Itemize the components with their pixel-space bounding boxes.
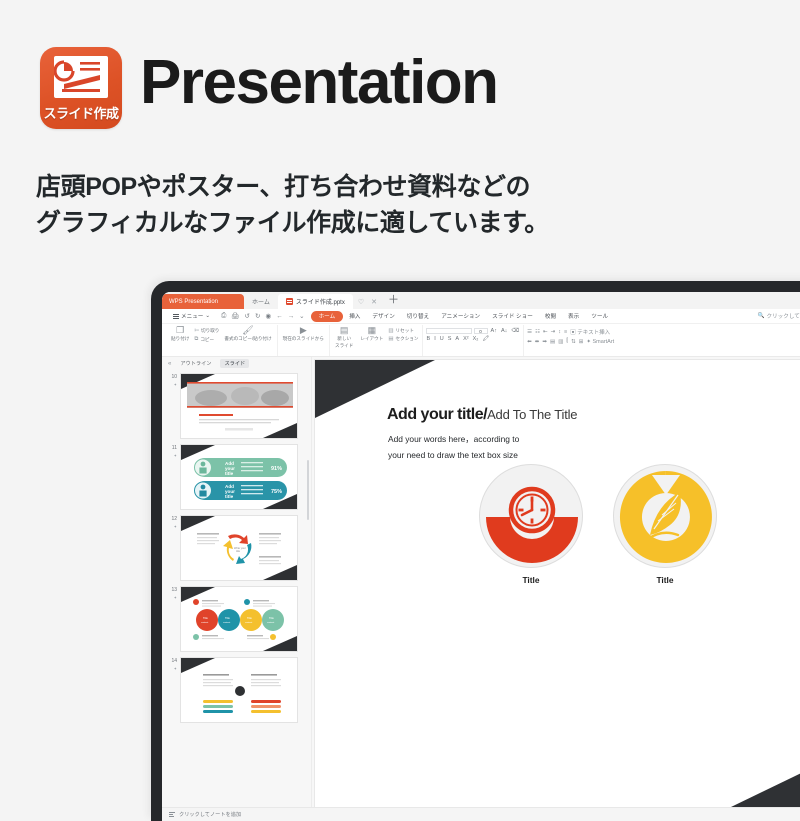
subscript-icon[interactable]: X₂ xyxy=(472,336,480,342)
hamburger-icon xyxy=(173,314,179,319)
slide-canvas[interactable]: Add your title/ Add To The Title Add you… xyxy=(315,360,800,807)
graphic-label-feather: Title xyxy=(656,575,673,585)
scissors-icon: ✄ xyxy=(194,328,199,334)
clipboard-small-buttons: ✄ 切り取り ⧉ コピー xyxy=(194,326,219,343)
quick-access-toolbar: ⎙ 🖨 ↺ ↻ ◉ ← → ⌄ xyxy=(215,312,311,320)
slide-title[interactable]: Add your title/ Add To The Title xyxy=(387,406,577,424)
tab-outline[interactable]: アウトライン xyxy=(176,359,215,368)
ribbon-tab-slideshow[interactable]: スライド ショー xyxy=(486,311,539,322)
increase-indent-icon[interactable]: ⇥ xyxy=(551,329,556,335)
tab-document-label: スライド作成.pptx xyxy=(296,297,345,306)
ribbon-group-slideshow: ▶ 現在のスライドから xyxy=(277,325,329,356)
clear-format-icon[interactable]: ⌫ xyxy=(510,328,520,334)
font-color-icon[interactable]: A xyxy=(454,336,460,342)
slide-star-icon: ✦ xyxy=(166,524,177,530)
arrow-right-icon[interactable]: → xyxy=(288,313,295,320)
ribbon-tab-review[interactable]: 校閲 xyxy=(539,311,562,322)
paste-label: 貼り付け xyxy=(171,336,189,342)
format-painter-button[interactable]: 🖌 書式のコピー/貼り付け xyxy=(222,326,273,342)
slide-title-bold: Add your title/ xyxy=(387,406,487,424)
slide-star-icon: ✦ xyxy=(166,453,177,459)
slide-body-text[interactable]: Add your words here，according to your ne… xyxy=(388,432,519,463)
favorite-icon[interactable]: ♡ xyxy=(358,298,364,306)
align-text-icon[interactable]: ⊞ xyxy=(579,339,584,345)
ribbon-group-slides: ▤ 新しい スライド ▦ レイアウト ▥ リセット ▤ セクション xyxy=(329,325,422,356)
reset-button[interactable]: ▥ リセット xyxy=(388,328,418,334)
app-brand-label: WPS Presentation xyxy=(162,294,244,309)
ribbon-tab-insert[interactable]: 挿入 xyxy=(343,311,366,322)
svg-text:content: content xyxy=(245,621,253,624)
new-slide-label-1: 新しい xyxy=(337,336,351,342)
font-size-input[interactable]: 0 xyxy=(474,328,488,334)
slide-thumbnail-10[interactable] xyxy=(180,373,298,439)
paste-icon: ❐ xyxy=(176,326,184,335)
list-item[interactable]: 13✦ Title content Title xyxy=(162,586,311,657)
corner-decoration-bottom-right xyxy=(731,749,800,807)
new-slide-label-2: スライド xyxy=(335,343,353,349)
font-family-input[interactable] xyxy=(426,328,472,334)
slide-graphics-row: Title xyxy=(375,464,800,585)
tab-home[interactable]: ホーム xyxy=(244,294,278,309)
graphic-label-clock: Title xyxy=(522,575,539,585)
promo-description: 店頭POPやポスター、打ち合わせ資料などの グラフィカルなファイル作成に適してい… xyxy=(36,170,549,241)
slide-body-line-2: your need to draw the text box size xyxy=(388,448,519,464)
copy-label: コピー xyxy=(200,337,214,343)
save-icon[interactable]: ⎙ xyxy=(221,312,226,320)
tab-slides[interactable]: スライド xyxy=(220,359,249,368)
align-left-icon[interactable]: ⬅ xyxy=(527,339,532,345)
section-label: セクション xyxy=(396,336,419,342)
slide-title-light: Add To The Title xyxy=(487,407,577,422)
menu-button-label: メニュー xyxy=(181,312,203,320)
slides-small-buttons: ▥ リセット ▤ セクション xyxy=(388,326,418,342)
slide-star-icon: ✦ xyxy=(166,595,177,601)
ribbon-tab-design[interactable]: デザイン xyxy=(366,311,400,322)
clock-circle-graphic xyxy=(479,464,583,568)
line-spacing-icon[interactable]: ↕ xyxy=(558,329,561,335)
slide-number: 10✦ xyxy=(166,373,177,388)
list-item[interactable]: 10✦ xyxy=(162,373,311,444)
tab-document[interactable]: スライド作成.pptx xyxy=(278,294,353,309)
chevron-down-icon: ⌄ xyxy=(205,313,210,319)
text-direction-icon[interactable]: ⇅ xyxy=(571,339,576,345)
svg-text:Title: Title xyxy=(203,616,208,620)
highlight-icon[interactable]: 🖍 xyxy=(481,336,490,342)
reset-icon: ▥ xyxy=(388,328,393,334)
preview-icon[interactable]: ◉ xyxy=(265,312,271,320)
command-search-placeholder: クリックしてコマンドを検索 xyxy=(766,312,800,320)
layout-button[interactable]: ▦ レイアウト xyxy=(358,326,385,342)
promo-header: スライド作成 Presentation 店頭POPやポスター、打ち合わせ資料など… xyxy=(0,0,800,270)
svg-text:Title: Title xyxy=(269,616,274,620)
panel-scrollbar[interactable] xyxy=(307,460,310,520)
panel-tabs: « アウトライン スライド xyxy=(162,357,311,370)
underline-button[interactable]: U xyxy=(439,336,445,342)
justify-icon[interactable]: ▤ xyxy=(550,339,555,345)
paragraph-controls: ☰ ☷ ⇤ ⇥ ↕ ≡ ▣ テキスト挿入 ⬅ ⬌ ➡ ▤ ▥ ⫿ ⇅ ⊞ xyxy=(527,326,614,345)
menu-button[interactable]: メニュー ⌄ xyxy=(168,312,215,320)
slide-editor-area[interactable]: Add your title/ Add To The Title Add you… xyxy=(312,357,800,807)
notes-icon xyxy=(169,812,175,817)
workspace: « アウトライン スライド 10✦ xyxy=(162,357,800,807)
app-badge: スライド作成 xyxy=(40,47,122,129)
superscript-icon[interactable]: X² xyxy=(462,336,470,342)
title-bar: WPS Presentation ホーム スライド作成.pptx ♡ ✕ ＋ xyxy=(162,292,800,309)
close-icon[interactable]: ✕ xyxy=(371,298,377,306)
list-item[interactable]: 11✦ Add your title xyxy=(162,444,311,515)
status-bar[interactable]: クリックしてノートを追加 xyxy=(162,807,800,821)
slide-chart-icon xyxy=(54,56,108,98)
tab-actions: ♡ ✕ xyxy=(353,298,383,309)
smartart-button[interactable]: ✦ SmartArt xyxy=(586,339,614,345)
ribbon-tab-tools[interactable]: ツール xyxy=(585,311,614,322)
tab-home-label: ホーム xyxy=(252,297,270,306)
svg-text:title: title xyxy=(236,549,241,553)
slide-star-icon: ✦ xyxy=(166,382,177,388)
list-item[interactable]: 14✦ xyxy=(162,657,311,728)
brush-icon: 🖌 xyxy=(242,326,253,335)
columns-icon[interactable]: ⫿ xyxy=(566,338,568,345)
print-icon[interactable]: 🖨 xyxy=(231,312,239,320)
list-item[interactable]: 12✦ Write your title xyxy=(162,515,311,586)
strikethrough-button[interactable]: S xyxy=(447,336,453,342)
search-icon: 🔍 xyxy=(757,313,764,319)
slide-thumbnail-12[interactable]: Write your title xyxy=(180,515,298,581)
paragraph-row-2: ⬅ ⬌ ➡ ▤ ▥ ⫿ ⇅ ⊞ ✦ SmartArt xyxy=(527,338,614,345)
slide-number: 12✦ xyxy=(166,515,177,530)
ribbon-tab-strip: メニュー ⌄ ⎙ 🖨 ↺ ↻ ◉ ← → ⌄ ホーム 挿入 デザイン 切り替え … xyxy=(162,309,800,324)
slide-thumbnail-13[interactable]: Title content Title content Title conten… xyxy=(180,586,298,652)
text-insert-button[interactable]: ▣ テキスト挿入 xyxy=(570,328,610,336)
notes-placeholder: クリックしてノートを追加 xyxy=(179,811,241,818)
thumbnail-list[interactable]: 10✦ xyxy=(162,370,311,807)
font-family-row: 0 A↑ A↓ ⌫ xyxy=(426,328,521,334)
format-painter-label: 書式のコピー/貼り付け xyxy=(224,336,271,342)
layout-label: レイアウト xyxy=(360,336,383,342)
svg-text:content: content xyxy=(201,621,209,624)
svg-text:Title: Title xyxy=(225,616,230,620)
promo-description-line-2: グラフィカルなファイル作成に適しています。 xyxy=(36,206,549,242)
svg-text:91%: 91% xyxy=(271,466,282,472)
distribute-icon[interactable]: ▥ xyxy=(558,339,563,345)
ribbon-group-font: 0 A↑ A↓ ⌫ B I U S A X² X₂ 🖍 xyxy=(422,325,524,356)
new-slide-icon: ▤ xyxy=(340,326,349,335)
reset-label: リセット xyxy=(396,328,414,334)
paste-button[interactable]: ❐ 貼り付け xyxy=(169,326,191,342)
new-tab-button[interactable]: ＋ xyxy=(383,292,404,309)
svg-text:Title: Title xyxy=(247,616,252,620)
section-icon: ▤ xyxy=(388,336,393,342)
ribbon-tab-transitions[interactable]: 切り替え xyxy=(401,311,435,322)
align-center-icon[interactable]: ⬌ xyxy=(535,339,540,345)
font-controls: 0 A↑ A↓ ⌫ B I U S A X² X₂ 🖍 xyxy=(426,326,521,342)
app-badge-caption: スライド作成 xyxy=(40,103,122,122)
svg-text:content: content xyxy=(267,621,275,624)
text-insert-label: テキスト挿入 xyxy=(577,330,610,336)
numbered-list-icon[interactable]: ☷ xyxy=(535,329,540,335)
undo-icon[interactable]: ↺ xyxy=(245,312,250,320)
paragraph-spacing-icon[interactable]: ≡ xyxy=(564,329,567,335)
slide-panel: « アウトライン スライド 10✦ xyxy=(162,357,312,807)
cut-button[interactable]: ✄ 切り取り xyxy=(194,328,219,334)
command-search[interactable]: 🔍 クリックしてコマンドを検索 xyxy=(757,312,800,320)
slide-number: 13✦ xyxy=(166,586,177,601)
app-window: WPS Presentation ホーム スライド作成.pptx ♡ ✕ ＋ メ… xyxy=(162,292,800,821)
redo-icon[interactable]: ↻ xyxy=(255,312,260,320)
cut-label: 切り取り xyxy=(201,328,219,334)
bullet-list-icon[interactable]: ☰ xyxy=(527,329,532,335)
arrow-left-icon[interactable]: ← xyxy=(276,313,283,320)
grow-font-icon[interactable]: A↑ xyxy=(490,328,498,334)
align-right-icon[interactable]: ➡ xyxy=(542,339,547,345)
promo-description-line-1: 店頭POPやポスター、打ち合わせ資料などの xyxy=(36,170,549,206)
new-slide-button[interactable]: ▤ 新しい スライド xyxy=(333,326,355,349)
slide-body-line-1: Add your words here，according to xyxy=(388,432,519,448)
from-current-slide-button[interactable]: ▶ 現在のスライドから xyxy=(281,326,326,342)
feather-circle-graphic xyxy=(613,464,717,568)
paragraph-row-1: ☰ ☷ ⇤ ⇥ ↕ ≡ ▣ テキスト挿入 xyxy=(527,328,614,336)
font-style-row: B I U S A X² X₂ 🖍 xyxy=(426,336,521,342)
monitor-frame: WPS Presentation ホーム スライド作成.pptx ♡ ✕ ＋ メ… xyxy=(151,281,800,821)
slide-thumbnail-14[interactable] xyxy=(180,657,298,723)
ribbon-group-clipboard: ❐ 貼り付け ✄ 切り取り ⧉ コピー 🖌 書式のコピー/貼り付け xyxy=(166,325,277,356)
ribbon-body: ❐ 貼り付け ✄ 切り取り ⧉ コピー 🖌 書式のコピー/貼り付け ▶ xyxy=(162,324,800,357)
more-icon[interactable]: ⌄ xyxy=(299,312,304,320)
graphic-item-clock[interactable]: Title xyxy=(479,464,583,585)
bold-button[interactable]: B xyxy=(426,336,432,342)
slide-number: 14✦ xyxy=(166,657,177,672)
shrink-font-icon[interactable]: A↓ xyxy=(500,328,508,334)
from-current-slide-label: 現在のスライドから xyxy=(283,336,324,342)
play-circle-icon: ▶ xyxy=(300,326,307,335)
italic-button[interactable]: I xyxy=(433,336,437,342)
ribbon-group-paragraph: ☰ ☷ ⇤ ⇥ ↕ ≡ ▣ テキスト挿入 ⬅ ⬌ ➡ ▤ ▥ ⫿ ⇅ ⊞ xyxy=(523,325,617,356)
slide-number: 11✦ xyxy=(166,444,177,459)
pptx-file-icon xyxy=(286,298,293,305)
chevron-double-left-icon[interactable]: « xyxy=(168,361,171,367)
svg-text:title: title xyxy=(225,494,234,499)
graphic-item-feather[interactable]: Title xyxy=(613,464,717,585)
section-button[interactable]: ▤ セクション xyxy=(388,336,418,342)
slide-star-icon: ✦ xyxy=(166,666,177,672)
slide-thumbnail-11[interactable]: Add your title 91% Add y xyxy=(180,444,298,510)
layout-icon: ▦ xyxy=(368,326,377,335)
smartart-label: SmartArt xyxy=(593,339,615,345)
ribbon-tab-home[interactable]: ホーム xyxy=(311,311,344,322)
svg-text:75%: 75% xyxy=(271,489,282,495)
ribbon-tab-animations[interactable]: アニメーション xyxy=(435,311,486,322)
decrease-indent-icon[interactable]: ⇤ xyxy=(543,329,548,335)
svg-text:content: content xyxy=(223,621,231,624)
svg-text:title: title xyxy=(225,471,234,476)
ribbon-tab-view[interactable]: 表示 xyxy=(562,311,585,322)
copy-button[interactable]: ⧉ コピー xyxy=(194,336,219,343)
page-title: Presentation xyxy=(140,52,498,114)
copy-icon: ⧉ xyxy=(194,336,198,343)
